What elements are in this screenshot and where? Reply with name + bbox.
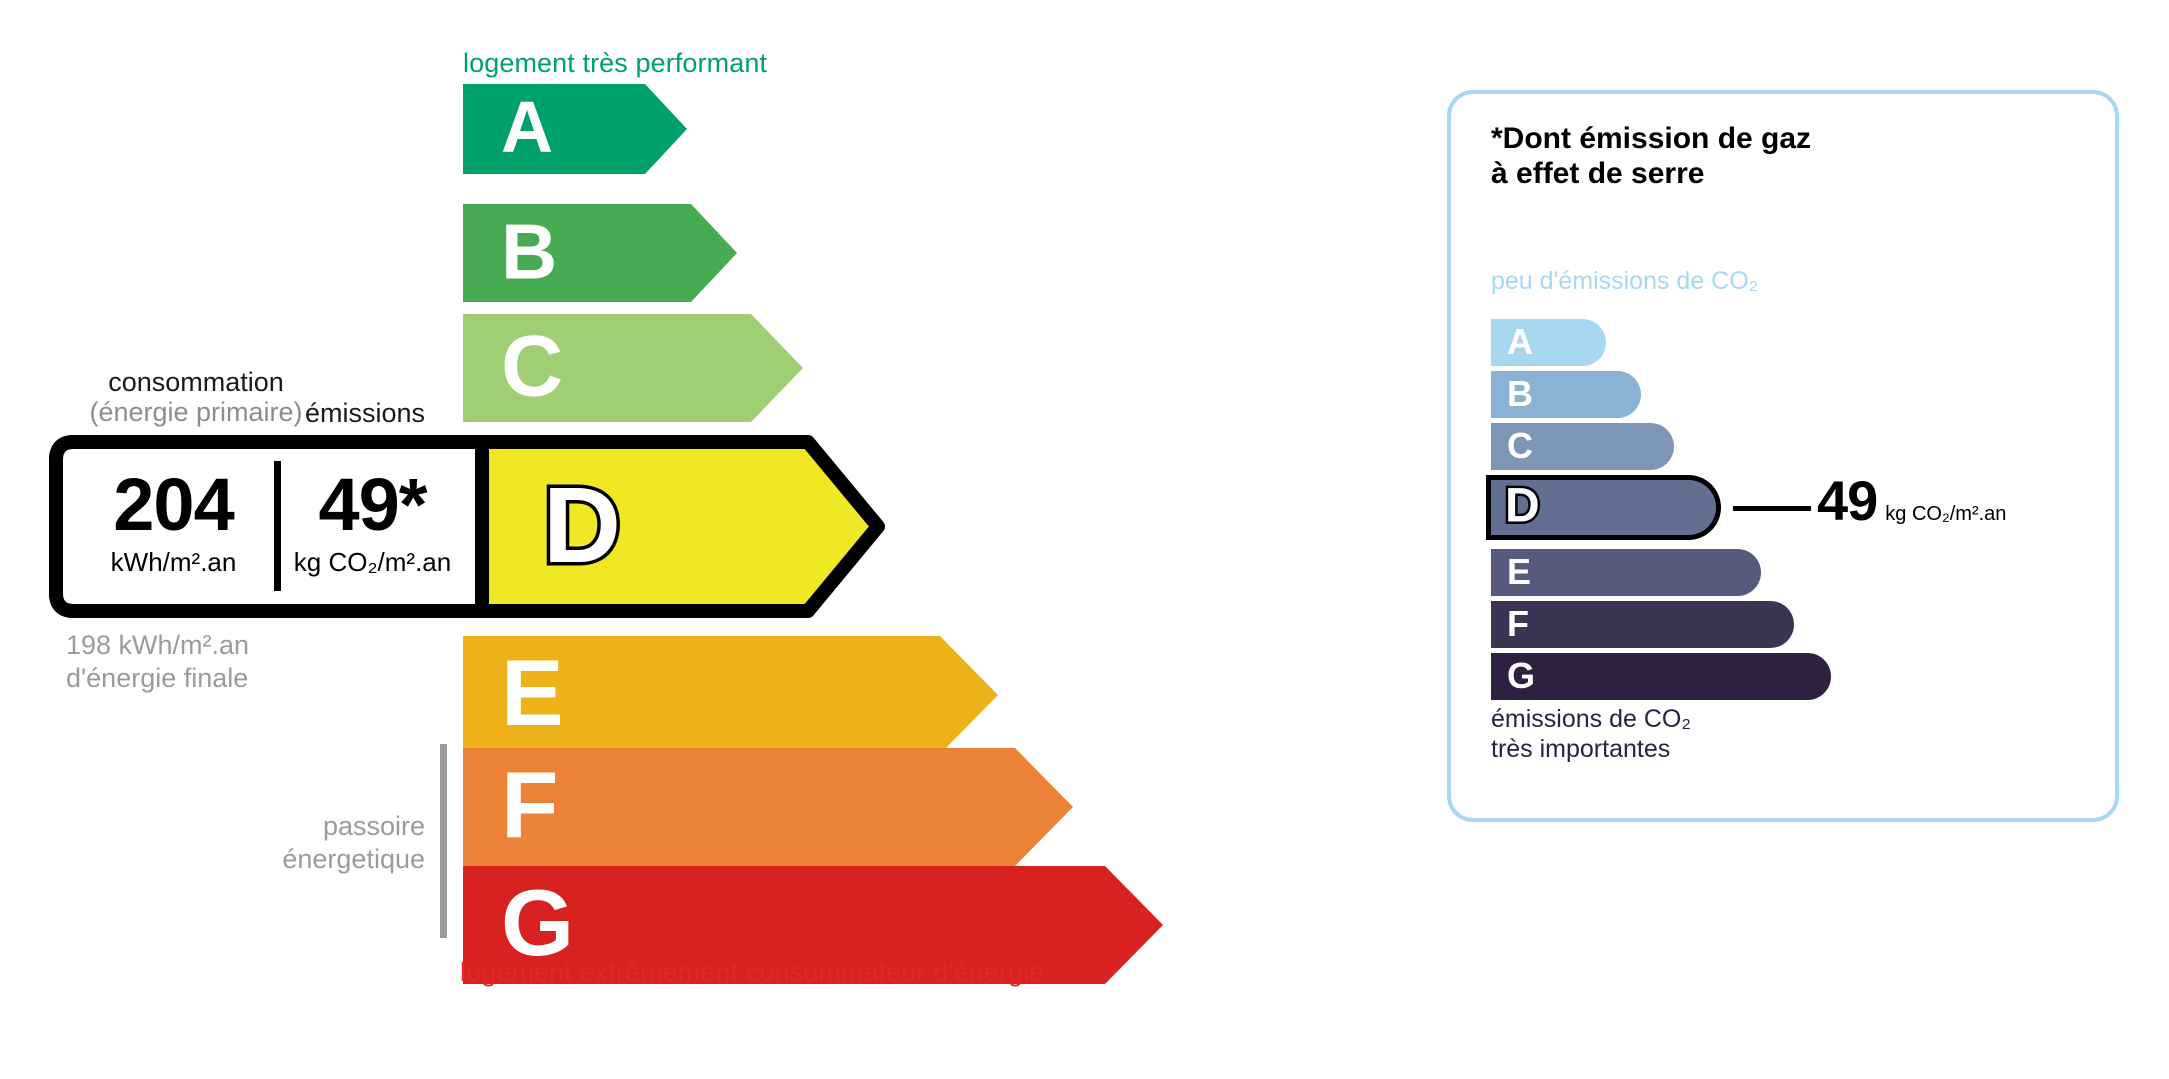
- co2-scale-row-b: B: [1491, 371, 1641, 418]
- co2-unit: kg CO₂/m².an: [1885, 503, 2006, 525]
- energy-scale-row-f: F: [463, 748, 1073, 866]
- emissions-unit: kg CO₂/m².an: [280, 549, 465, 575]
- co2-value-callout: 49kg CO₂/m².an: [1817, 468, 2006, 533]
- consumption-value: 204: [66, 468, 281, 542]
- final-energy-value: 198 kWh/m².an: [66, 629, 249, 662]
- energy-scale-letter-b: B: [501, 212, 557, 290]
- co2-scale-letter-b: B: [1507, 375, 1533, 411]
- energy-scale-row-c: C: [463, 314, 803, 422]
- emissions-value: 49*: [280, 468, 465, 542]
- energy-scale-panel: logement très performant ABCEFG D consom…: [0, 0, 1380, 1079]
- consumption-label: consommation (énergie primaire): [66, 367, 326, 427]
- co2-scale-letter-d: D: [1505, 482, 1540, 530]
- passoire-label: passoire énergetique: [215, 810, 425, 876]
- consumption-label-sub: (énergie primaire): [66, 397, 326, 427]
- co2-scale-letter-a: A: [1507, 323, 1533, 359]
- co2-scale-letter-e: E: [1507, 553, 1531, 589]
- energy-scale-row-b: B: [463, 204, 737, 302]
- energy-bottom-caption: logement extrêmement consommateur d'éner…: [460, 957, 1044, 988]
- energy-scale-letter-c: C: [501, 323, 563, 409]
- consumption-value-cell: 204 kWh/m².an: [66, 468, 281, 575]
- co2-scale-letter-c: C: [1507, 427, 1533, 463]
- passoire-bracket: [440, 744, 447, 938]
- energy-scale-letter-e: E: [501, 646, 564, 740]
- energy-scale-letter-f: F: [501, 758, 558, 852]
- energy-scale-row-a: A: [463, 84, 687, 174]
- co2-scale-letter-g: G: [1507, 657, 1535, 693]
- co2-scale-row-g: G: [1491, 653, 1831, 700]
- final-energy-label: d'énergie finale: [66, 662, 249, 695]
- co2-scale-row-a: A: [1491, 319, 1606, 366]
- co2-leader-line: [1733, 506, 1811, 511]
- co2-scale-letter-f: F: [1507, 605, 1529, 641]
- co2-value: 49: [1817, 469, 1877, 532]
- consumption-unit: kWh/m².an: [66, 549, 281, 575]
- dpe-diagram: logement très performant ABCEFG D consom…: [0, 0, 2169, 1079]
- energy-scale-letter-a: A: [501, 92, 553, 164]
- co2-scale-row-c: C: [1491, 423, 1674, 470]
- co2-scale-row-f: F: [1491, 601, 1794, 648]
- co2-bottom-caption: émissions de CO₂ très importantes: [1491, 704, 1691, 764]
- final-energy-note: 198 kWh/m².an d'énergie finale: [66, 629, 249, 695]
- energy-scale-row-e: E: [463, 636, 998, 754]
- energy-rating-letter: D: [543, 470, 621, 578]
- emissions-value-cell: 49* kg CO₂/m².an: [280, 468, 465, 575]
- co2-scale-row-d: D: [1486, 475, 1721, 540]
- emissions-label: émissions: [305, 398, 425, 429]
- passoire-line-1: passoire: [215, 810, 425, 843]
- passoire-line-2: énergetique: [215, 843, 425, 876]
- co2-panel: *Dont émission de gaz à effet de serre p…: [1447, 90, 2119, 822]
- consumption-label-main: consommation: [108, 367, 284, 397]
- co2-panel-title: *Dont émission de gaz à effet de serre: [1491, 121, 1811, 192]
- co2-scale-row-e: E: [1491, 549, 1761, 596]
- co2-top-caption: peu d'émissions de CO₂: [1491, 267, 1758, 296]
- energy-top-caption: logement très performant: [463, 48, 767, 79]
- energy-arrow-a: [463, 84, 687, 174]
